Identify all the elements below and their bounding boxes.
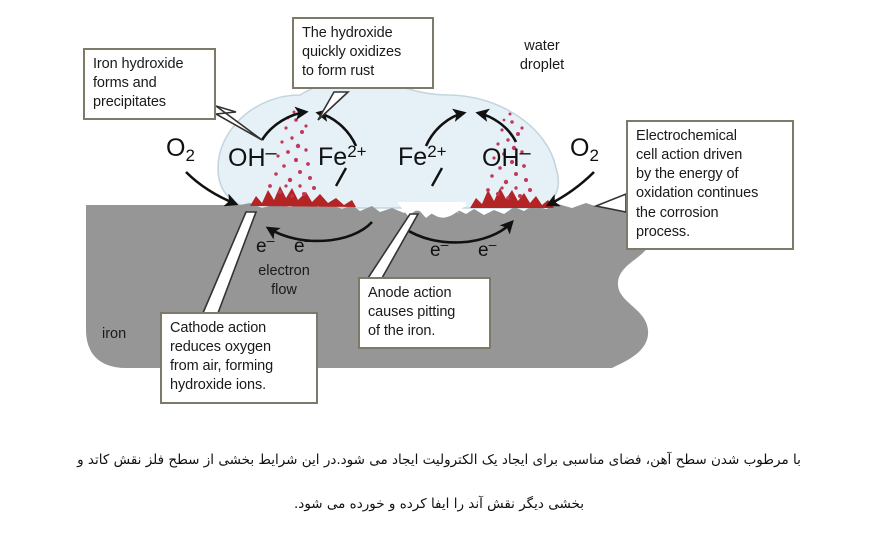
cathode-action-line-4: hydroxide ions. xyxy=(170,376,309,395)
electron-label-2: e– xyxy=(294,232,312,258)
iron-ion-right-symbol: Fe xyxy=(398,143,427,171)
electrochemical-line-2: cell action driven xyxy=(636,146,785,165)
electron-2-symbol: e xyxy=(294,236,305,257)
water-droplet-label-line-1: water xyxy=(497,37,587,56)
o2-left-subscript: 2 xyxy=(185,146,194,165)
caption-line-1: با مرطوب شدن سطح آهن، فضای مناسبی برای ا… xyxy=(0,450,878,470)
iron-ion-left-charge: 2+ xyxy=(347,142,366,161)
hydroxide-oxidizes-callout[interactable]: The hydroxide quickly oxidizes to form r… xyxy=(292,17,434,89)
water-droplet-label: water droplet xyxy=(497,37,587,75)
cathode-action-line-2: reduces oxygen xyxy=(170,338,309,357)
hydroxide-right-charge: – xyxy=(520,142,531,164)
electrochemical-line-4: oxidation continues xyxy=(636,184,785,203)
electron-label-4: e– xyxy=(478,236,496,262)
electron-1-symbol: e xyxy=(256,236,267,257)
anode-action-callout[interactable]: Anode action causes pitting of the iron. xyxy=(358,277,491,349)
iron-hydroxide-line-1: Iron hydroxide xyxy=(93,55,207,74)
hydroxide-right-symbol: OH xyxy=(482,144,520,172)
anode-action-line-3: of the iron. xyxy=(368,322,482,341)
hydroxide-oxidizes-line-1: The hydroxide xyxy=(302,24,425,43)
electron-4-charge: – xyxy=(489,236,497,252)
electrochemical-line-3: by the energy of xyxy=(636,165,785,184)
iron-hydroxide-callout[interactable]: Iron hydroxide forms and precipitates xyxy=(83,48,216,120)
iron-ion-left-label: Fe2+ xyxy=(318,142,367,172)
o2-left-label: O2 xyxy=(166,134,195,166)
anode-action-line-2: causes pitting xyxy=(368,303,482,322)
cathode-action-line-1: Cathode action xyxy=(170,319,309,338)
iron-hydroxide-line-2: forms and xyxy=(93,74,207,93)
o2-right-subscript: 2 xyxy=(589,146,598,165)
electron-1-charge: – xyxy=(267,232,275,248)
hydroxide-left-label: OH– xyxy=(228,142,277,173)
figure-page: Iron hydroxide forms and precipitates Th… xyxy=(0,0,878,541)
o2-right-label: O2 xyxy=(570,134,599,166)
electron-4-symbol: e xyxy=(478,240,489,261)
hydroxide-oxidizes-line-2: quickly oxidizes xyxy=(302,43,425,62)
cathode-action-line-3: from air, forming xyxy=(170,357,309,376)
water-droplet-label-line-2: droplet xyxy=(497,56,587,75)
o2-right-symbol: O xyxy=(570,134,589,162)
hydroxide-left-symbol: OH xyxy=(228,144,266,172)
electron-3-symbol: e xyxy=(430,240,441,261)
electrochemical-cell-callout[interactable]: Electrochemical cell action driven by th… xyxy=(626,120,794,250)
electron-flow-label: electron flow xyxy=(238,262,330,300)
electron-label-3: e– xyxy=(430,236,448,262)
hydroxide-right-label: OH– xyxy=(482,142,531,173)
cathode-action-callout[interactable]: Cathode action reduces oxygen from air, … xyxy=(160,312,318,404)
iron-label: iron xyxy=(102,325,126,344)
hydroxide-left-charge: – xyxy=(266,142,277,164)
electron-2-charge: – xyxy=(305,232,313,248)
iron-hydroxide-line-3: precipitates xyxy=(93,93,207,112)
caption-line-2: بخشی دیگر نقش آند را ایفا کرده و خورده م… xyxy=(0,494,878,514)
iron-ion-left-symbol: Fe xyxy=(318,143,347,171)
electron-label-1: e– xyxy=(256,232,274,258)
electrochemical-line-1: Electrochemical xyxy=(636,127,785,146)
persian-caption: با مرطوب شدن سطح آهن، فضای مناسبی برای ا… xyxy=(0,432,878,541)
iron-ion-right-label: Fe2+ xyxy=(398,142,447,172)
electron-flow-line-2: flow xyxy=(238,281,330,300)
electron-3-charge: – xyxy=(441,236,449,252)
anode-action-line-1: Anode action xyxy=(368,284,482,303)
o2-left-symbol: O xyxy=(166,134,185,162)
electron-flow-line-1: electron xyxy=(238,262,330,281)
electrochemical-line-6: process. xyxy=(636,223,785,242)
hydroxide-oxidizes-line-3: to form rust xyxy=(302,62,425,81)
electrochemical-line-5: the corrosion xyxy=(636,204,785,223)
corrosion-diagram: Iron hydroxide forms and precipitates Th… xyxy=(0,0,878,430)
iron-ion-right-charge: 2+ xyxy=(427,142,446,161)
